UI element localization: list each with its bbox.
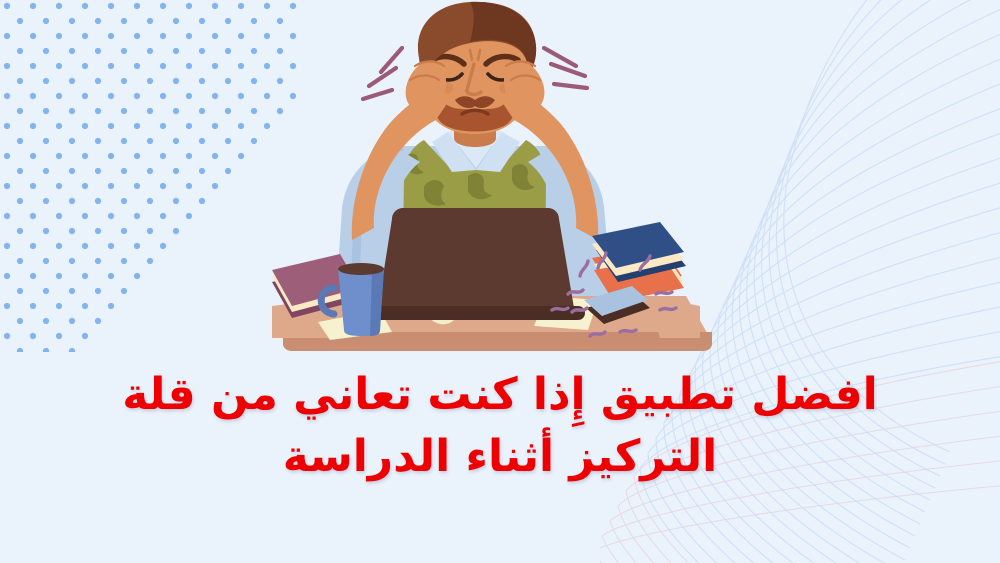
headline-line-1: افضل تطبيق إِذا كنت تعاني من قلة: [50, 364, 950, 426]
poster-canvas: افضل تطبيق إِذا كنت تعاني من قلة التركيز…: [0, 0, 1000, 563]
headline-line-2: التركيز أثناء الدراسة: [50, 426, 950, 488]
headline: افضل تطبيق إِذا كنت تعاني من قلة التركيز…: [50, 364, 950, 489]
